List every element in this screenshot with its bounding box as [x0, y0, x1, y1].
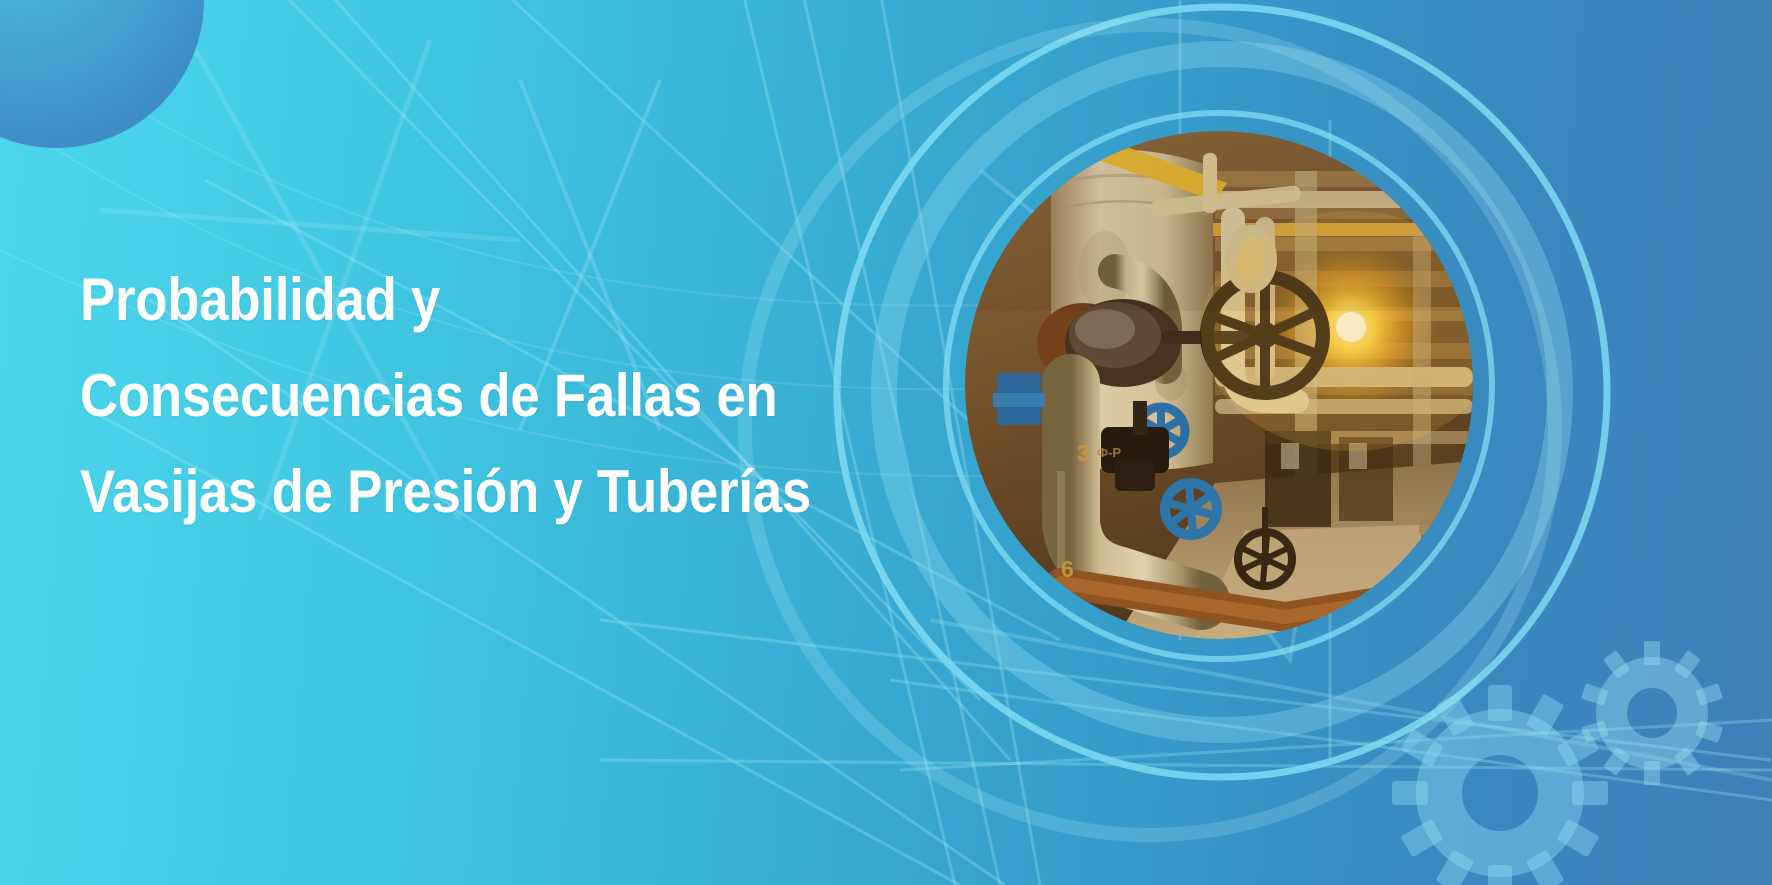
title-line-2: Consecuencias de Fallas en	[80, 348, 775, 444]
hero-banner: Probabilidad y Consecuencias de Fallas e…	[0, 0, 1772, 885]
industrial-photo: 3 6 Ф-Р	[965, 131, 1473, 639]
title-line-1: Probabilidad y	[80, 252, 775, 348]
title-line-3: Vasijas de Presión y Tuberías	[80, 444, 775, 540]
page-title: Probabilidad y Consecuencias de Fallas e…	[80, 252, 870, 540]
